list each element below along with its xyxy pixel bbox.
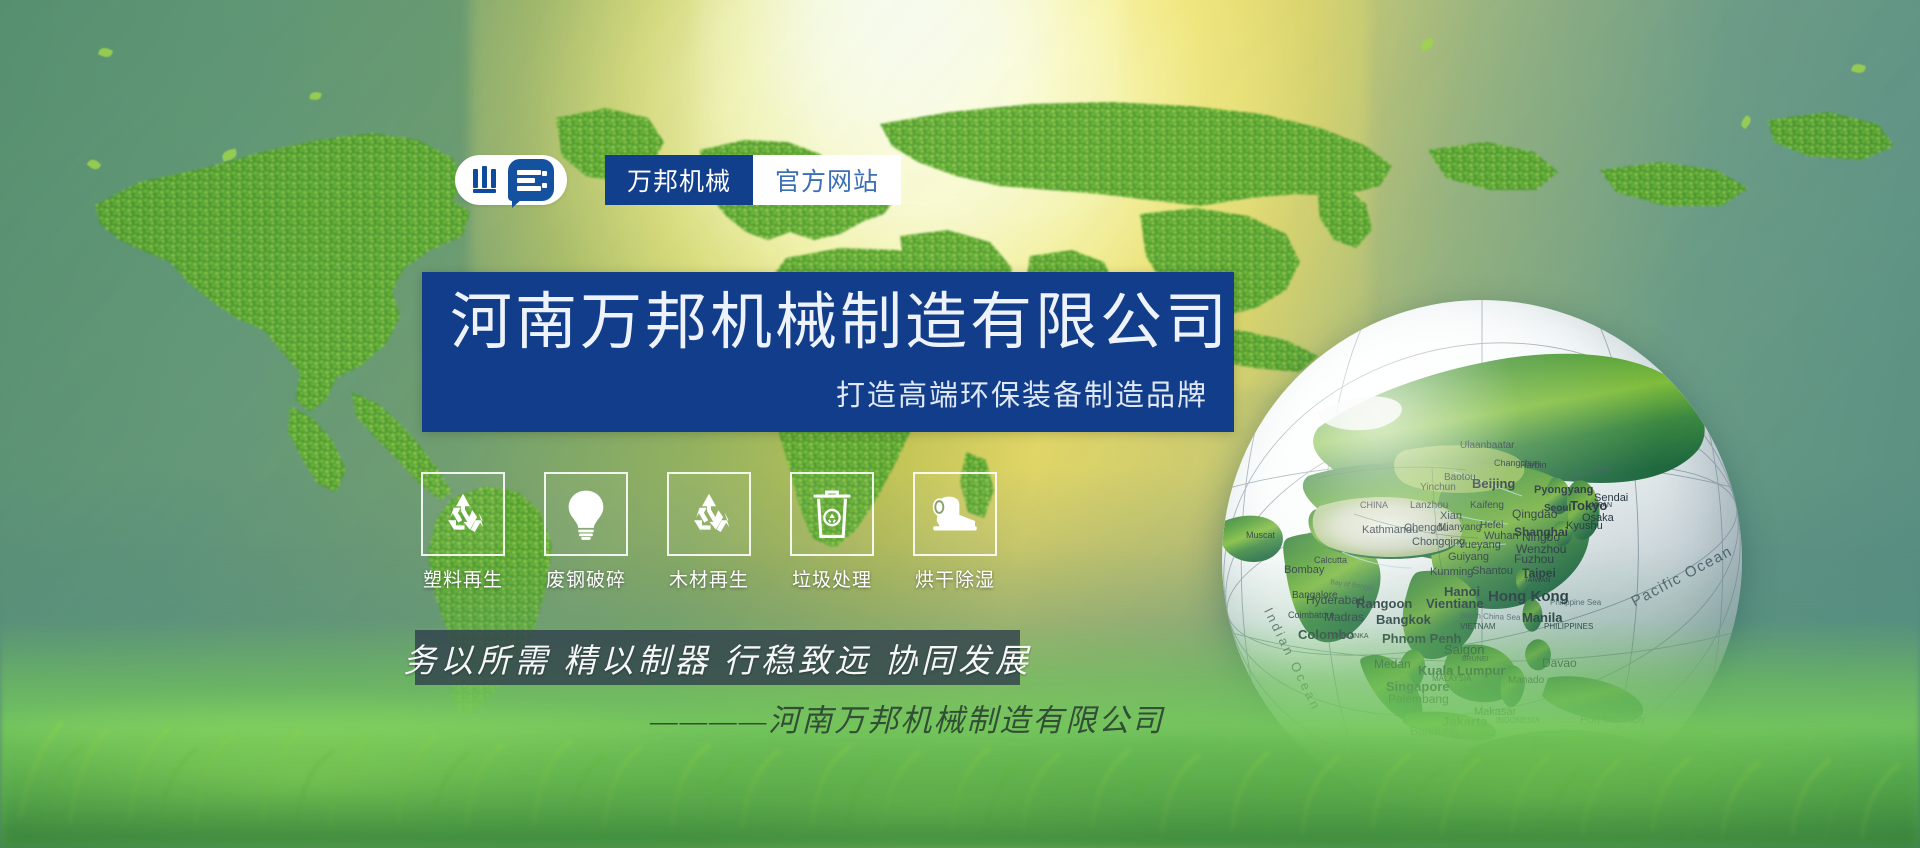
- dryer-drum-icon: [913, 472, 997, 556]
- service-item-scrap-steel-crushing[interactable]: 废钢破碎: [541, 472, 631, 592]
- trash-bin-icon: [790, 472, 874, 556]
- slogan-signature: ————河南万邦机械制造有限公司: [650, 695, 1164, 740]
- service-label: 垃圾处理: [792, 565, 872, 592]
- recycle-icon: [421, 472, 505, 556]
- service-item-wood-recycling[interactable]: 木材再生: [664, 472, 754, 592]
- service-label: 烘干除湿: [915, 565, 995, 592]
- service-item-drying-dehumidification[interactable]: 烘干除湿: [910, 472, 1000, 592]
- service-label: 塑料再生: [423, 565, 503, 592]
- grass-shadow: [0, 728, 1920, 848]
- company-banner: 河南万邦机械制造有限公司 打造高端环保装备制造品牌: [422, 272, 1234, 432]
- page-title: 河南万邦机械制造有限公司: [450, 292, 1230, 354]
- nav-item-brand[interactable]: 万邦机械: [605, 155, 753, 205]
- lightbulb-icon: [544, 472, 628, 556]
- wb-logo[interactable]: [455, 155, 567, 205]
- main-nav: 万邦机械 官方网站: [605, 155, 901, 205]
- logo-b-bubble-icon: [508, 159, 554, 201]
- hero-banner-page: Pacific OceanIndian OceanSouth China Sea…: [0, 0, 1920, 848]
- logo-dot-bottom: [542, 183, 547, 188]
- recycle-icon: [667, 472, 751, 556]
- service-label: 废钢破碎: [546, 565, 626, 592]
- site-header: 万邦机械 官方网站: [455, 150, 901, 210]
- logo-w-mark: [468, 165, 506, 195]
- logo-dot-top: [542, 171, 547, 176]
- service-icon-row: 塑料再生 废钢破碎: [418, 472, 1000, 592]
- service-item-plastic-recycling[interactable]: 塑料再生: [418, 472, 508, 592]
- slogan-text: 务以所需 精以制器 行稳致远 协同发展: [403, 634, 1032, 682]
- service-item-waste-treatment[interactable]: 垃圾处理: [787, 472, 877, 592]
- page-subtitle: 打造高端环保装备制造品牌: [836, 372, 1208, 414]
- service-label: 木材再生: [669, 565, 749, 592]
- slogan-bar: 务以所需 精以制器 行稳致远 协同发展: [415, 630, 1020, 685]
- nav-item-official-site[interactable]: 官方网站: [753, 155, 901, 205]
